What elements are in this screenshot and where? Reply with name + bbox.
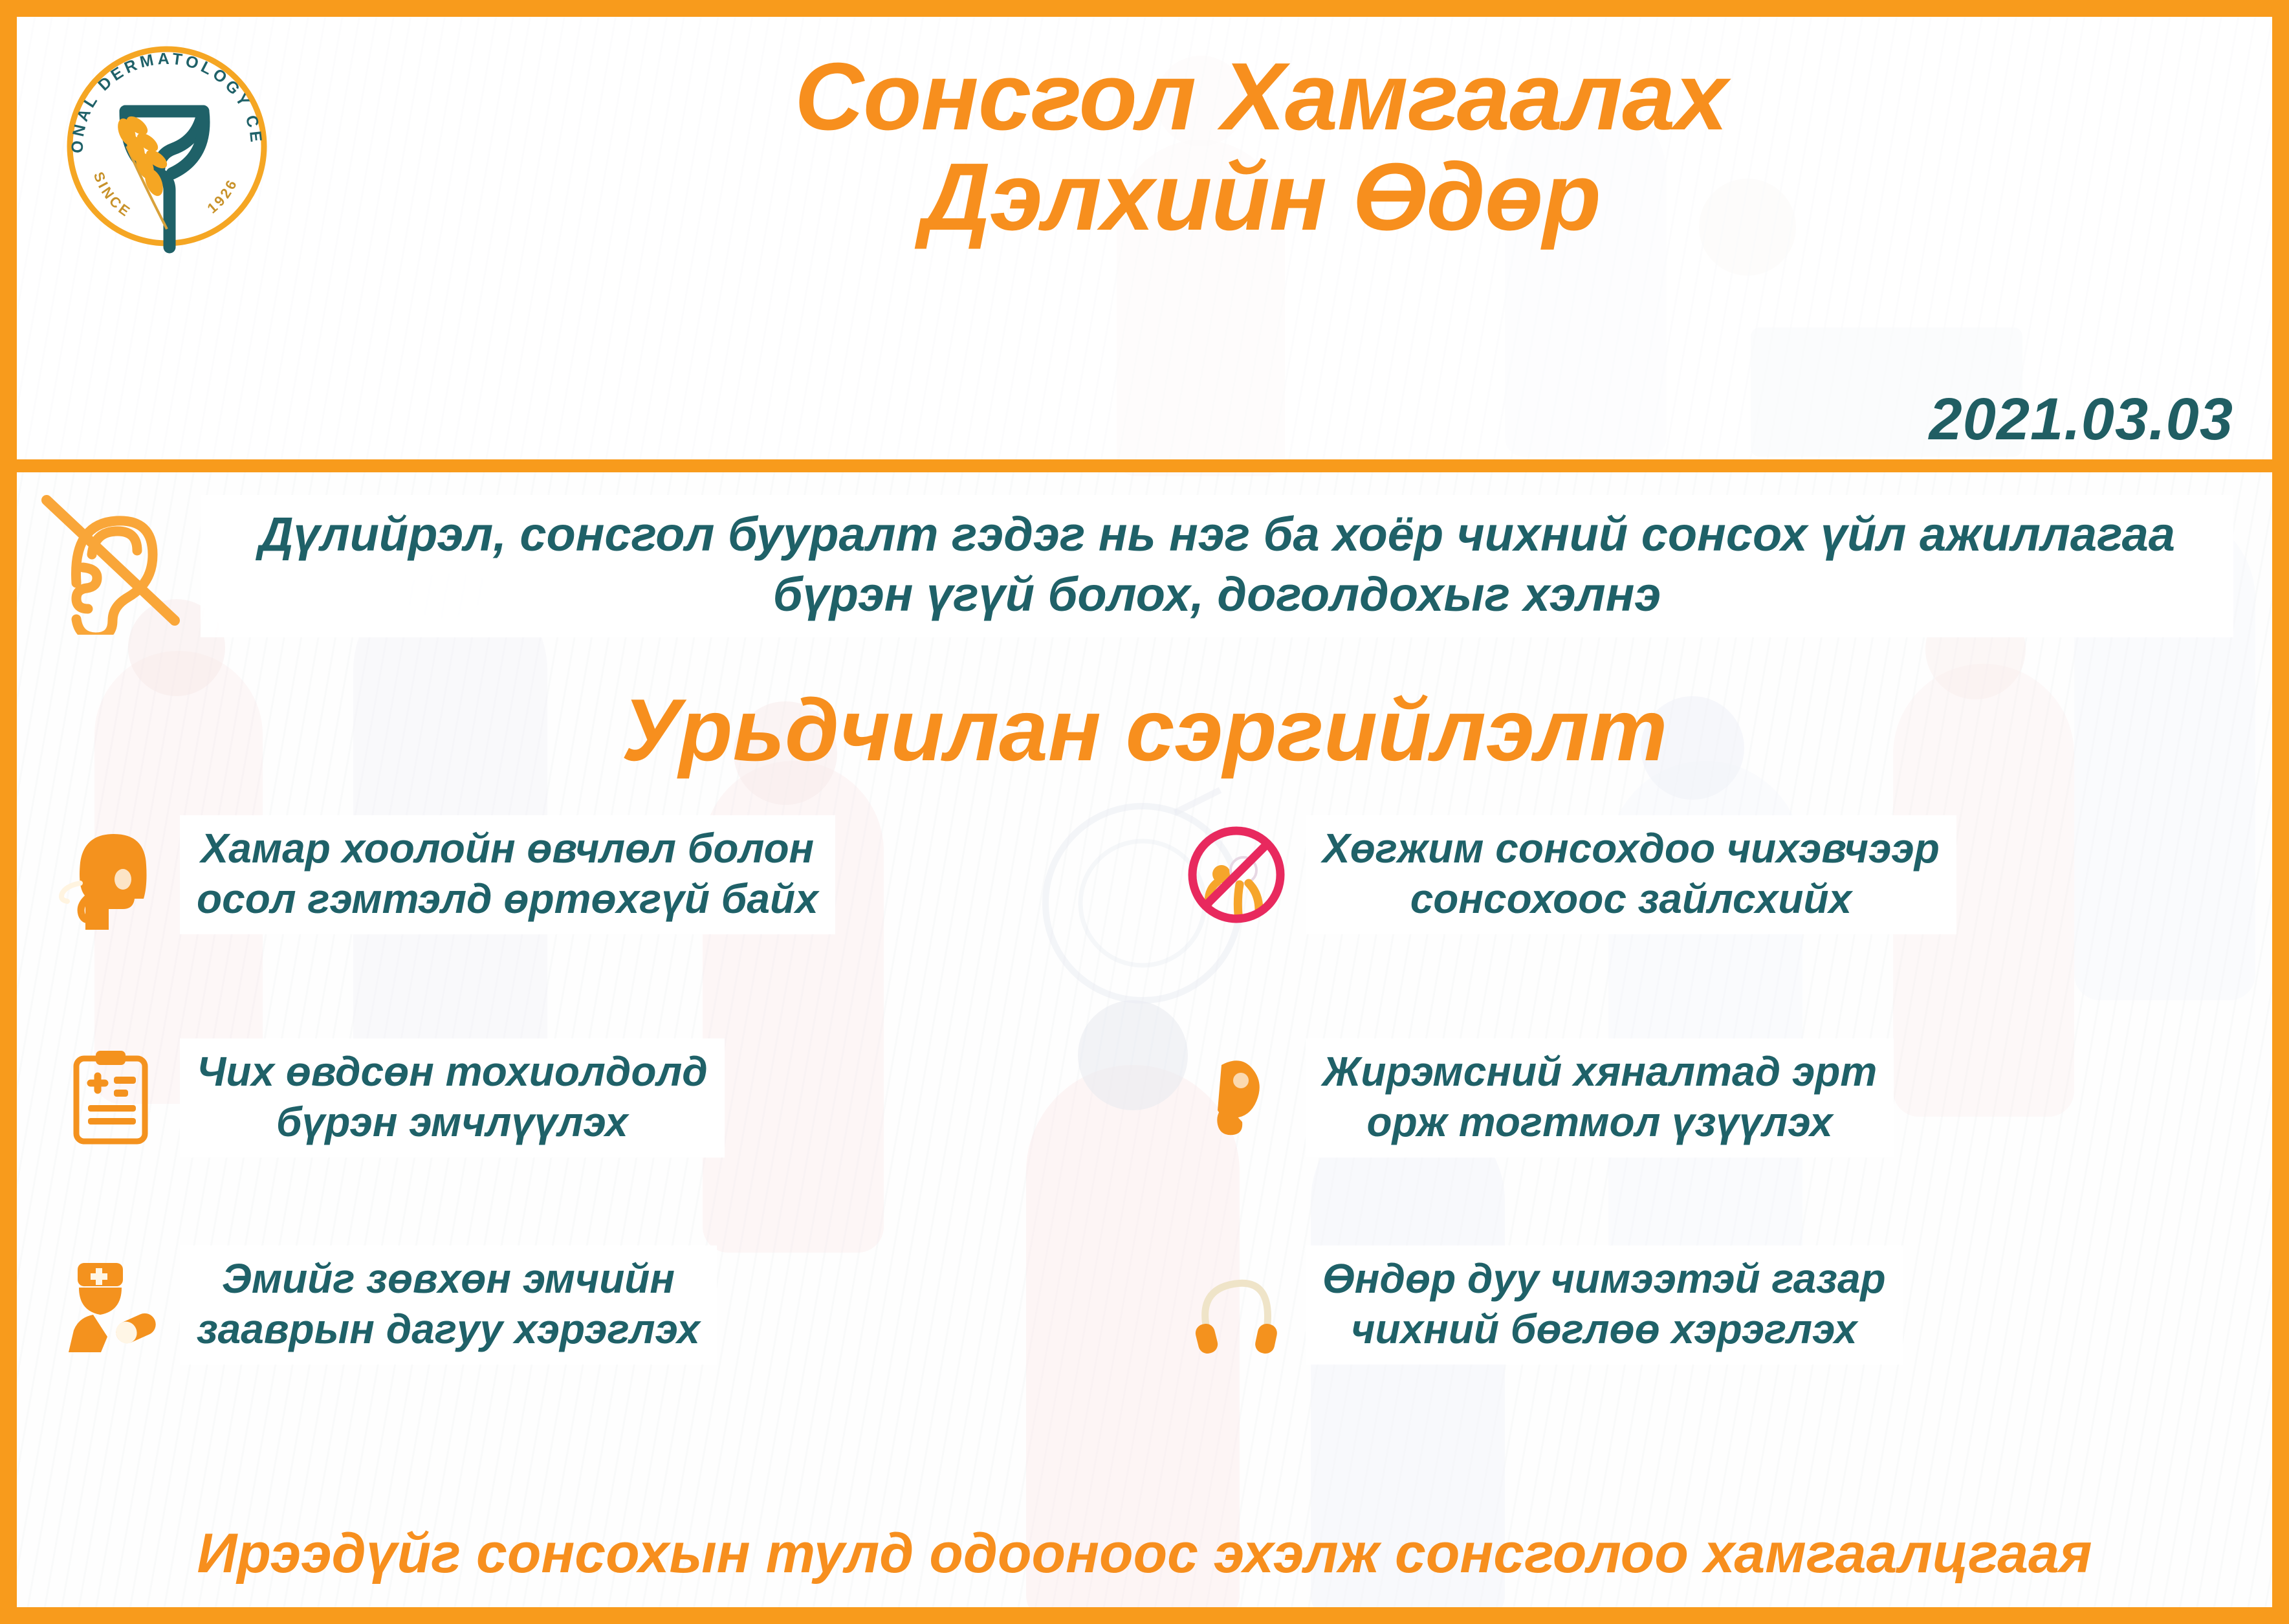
no-headphones-icon — [1181, 820, 1291, 930]
footer-slogan: Ирээдүйг сонсохын тулд одооноос эхэлж со… — [17, 1526, 2272, 1581]
pregnancy-checkup-icon — [1181, 1043, 1291, 1153]
tip-item-6: Өндөр дуу чимээтэй газар чихний бөглөө х… — [1181, 1245, 2229, 1365]
tip-text-4: Жирэмсний хяналтад эрт орж тогтмол үзүүл… — [1306, 1038, 1894, 1158]
tip-item-4: Жирэмсний хяналтад эрт орж тогтмол үзүүл… — [1181, 1038, 2229, 1158]
tip-item-3: Чих өвдсөн тохиолдолд бүрэн эмчлүүлэх — [56, 1038, 1065, 1158]
poster-root: NATIONAL DERMATOLOGY CENTER SINCE 1926 — [0, 0, 2289, 1624]
sneezing-head-icon — [56, 820, 166, 930]
poster-body: Дүлийрэл, сонсгол бууралт гэдэг нь нэг б… — [17, 472, 2272, 1607]
prevention-tips-grid: Хамар хоолойн өвчлөл болон осол гэмтэлд … — [17, 815, 2272, 1484]
doctor-pill-icon — [56, 1250, 166, 1360]
header-divider-rule — [17, 459, 2272, 472]
organization-logo: NATIONAL DERMATOLOGY CENTER SINCE 1926 — [57, 35, 277, 255]
tip-text-3: Чих өвдсөн тохиолдолд бүрэн эмчлүүлэх — [180, 1038, 725, 1158]
deaf-ear-slash-icon — [36, 486, 185, 635]
tip-text-1: Хамар хоолойн өвчлөл болон осол гэмтэлд … — [180, 815, 835, 934]
poster-title: Сонсгол Хамгаалах Дэлхийн Өдөр — [289, 47, 2233, 248]
tip-item-5: Эмийг зөвхөн эмчийн зааврын дагуу хэрэгл… — [56, 1245, 1065, 1365]
earplugs-icon — [1181, 1250, 1291, 1360]
section-heading-prevention: Урьдчилан сэргийлэлт — [17, 686, 2272, 774]
title-line-2: Дэлхийн Өдөр — [289, 147, 2233, 247]
tip-text-5: Эмийг зөвхөн эмчийн зааврын дагуу хэрэгл… — [180, 1245, 717, 1365]
tip-item-1: Хамар хоолойн өвчлөл болон осол гэмтэлд … — [56, 815, 1065, 934]
tip-item-2: Хөгжим сонсохдоо чихэвчээр сонсохоос зай… — [1181, 815, 2229, 934]
event-date: 2021.03.03 — [1929, 386, 2233, 454]
definition-text: Дүлийрэл, сонсгол бууралт гэдэг нь нэг б… — [201, 495, 2233, 637]
definition-row: Дүлийрэл, сонсгол бууралт гэдэг нь нэг б… — [36, 495, 2233, 637]
title-line-1: Сонсгол Хамгаалах — [289, 47, 2233, 147]
tip-text-6: Өндөр дуу чимээтэй газар чихний бөглөө х… — [1306, 1245, 1903, 1365]
tip-text-2: Хөгжим сонсохдоо чихэвчээр сонсохоос зай… — [1306, 815, 1956, 934]
medical-clipboard-icon — [56, 1043, 166, 1153]
